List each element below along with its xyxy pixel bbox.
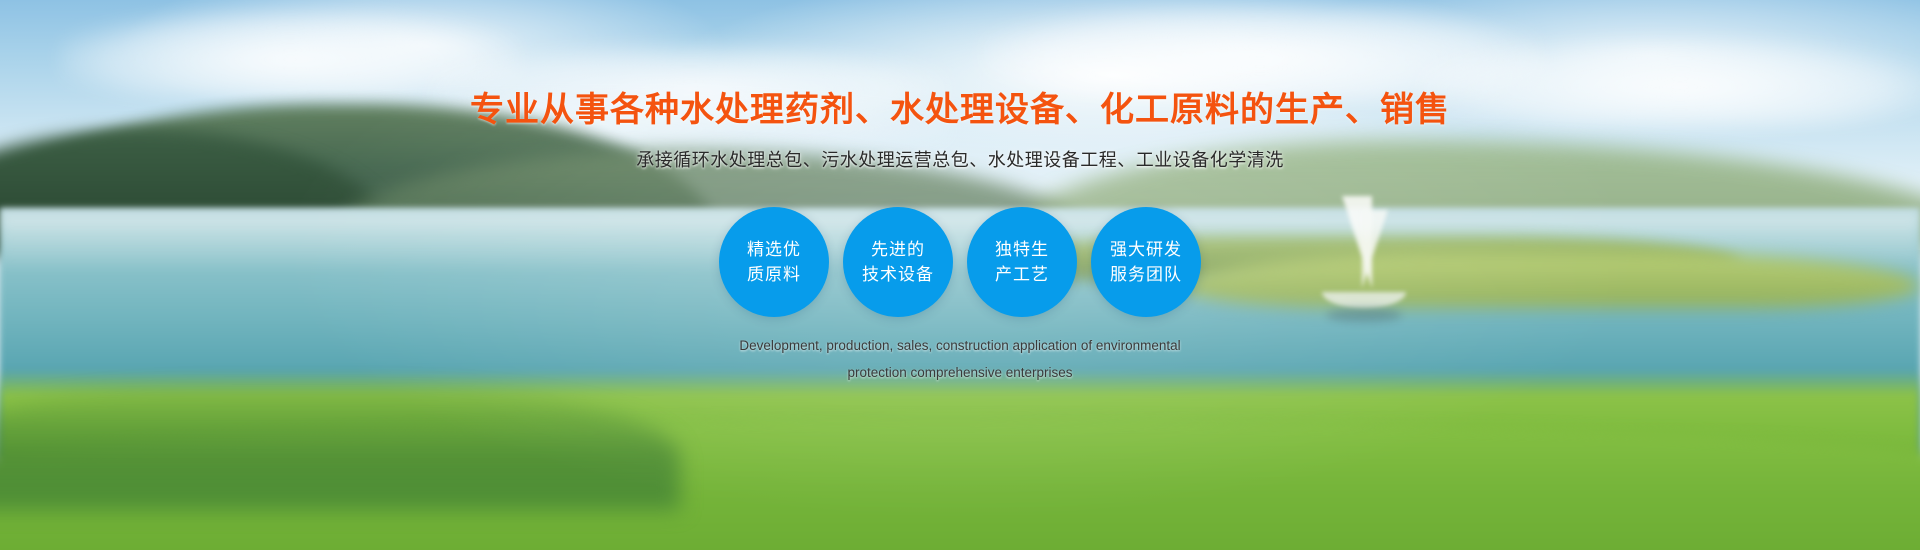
feature-circle-1-line1: 精选优 — [747, 237, 801, 263]
feature-circle-3-line1: 独特生 — [995, 237, 1049, 263]
feature-circle-2[interactable]: 先进的 技术设备 — [843, 207, 953, 317]
feature-circle-2-line2: 技术设备 — [862, 262, 934, 288]
english-tagline-line1: Development, production, sales, construc… — [0, 332, 1920, 359]
feature-circle-4-line1: 强大研发 — [1110, 237, 1182, 263]
english-tagline-line2: protection comprehensive enterprises — [0, 359, 1920, 386]
hero-banner: 专业从事各种水处理药剂、水处理设备、化工原料的生产、销售 承接循环水处理总包、污… — [0, 0, 1920, 550]
feature-circle-3-line2: 产工艺 — [995, 262, 1049, 288]
banner-content: 专业从事各种水处理药剂、水处理设备、化工原料的生产、销售 承接循环水处理总包、污… — [0, 0, 1920, 550]
feature-circle-4[interactable]: 强大研发 服务团队 — [1091, 207, 1201, 317]
feature-circle-2-line1: 先进的 — [871, 237, 925, 263]
feature-circle-list: 精选优 质原料 先进的 技术设备 独特生 产工艺 强大研发 服务团队 — [0, 207, 1920, 317]
feature-circle-1[interactable]: 精选优 质原料 — [719, 207, 829, 317]
banner-headline: 专业从事各种水处理药剂、水处理设备、化工原料的生产、销售 — [0, 82, 1920, 131]
feature-circle-1-line2: 质原料 — [747, 262, 801, 288]
english-tagline: Development, production, sales, construc… — [0, 332, 1920, 386]
banner-subheadline: 承接循环水处理总包、污水处理运营总包、水处理设备工程、工业设备化学清洗 — [0, 146, 1920, 172]
feature-circle-3[interactable]: 独特生 产工艺 — [967, 207, 1077, 317]
feature-circle-4-line2: 服务团队 — [1110, 262, 1182, 288]
